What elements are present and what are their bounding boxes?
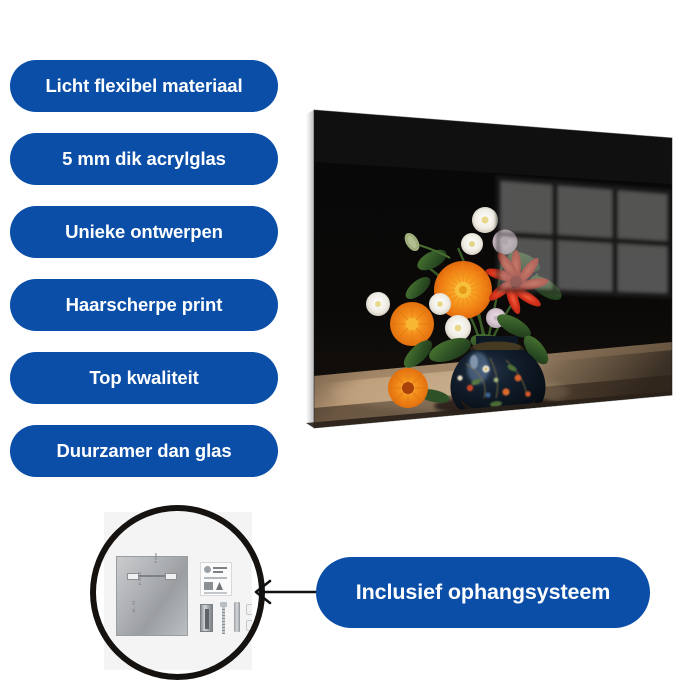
feature-pill-label: Haarscherpe print <box>66 296 223 315</box>
circle-outline-icon <box>90 505 265 680</box>
feature-pill-unique-designs[interactable]: Unieke ontwerpen <box>10 206 278 258</box>
arrow-left-icon <box>248 576 324 610</box>
feature-pill-label: Unieke ontwerpen <box>65 223 223 242</box>
feature-pill-5mm-acrylic[interactable]: 5 mm dik acrylglas <box>10 133 278 185</box>
feature-pill-top-quality[interactable]: Top kwaliteit <box>10 352 278 404</box>
acrylic-edge-left <box>306 110 314 428</box>
acrylic-panel-artwork <box>300 92 700 442</box>
feature-pill-list: Licht flexibel materiaal 5 mm dik acrylg… <box>10 60 278 498</box>
callout-pill-mounting-system[interactable]: Inclusief ophangsysteem <box>316 557 650 628</box>
artwork-svg <box>300 92 700 442</box>
feature-pill-label: Duurzamer dan glas <box>56 442 231 461</box>
marigold-left <box>390 302 434 346</box>
daisy <box>472 207 498 233</box>
callout-pill-label: Inclusief ophangsysteem <box>356 582 611 604</box>
panel-face <box>300 92 700 442</box>
product-feature-graphic: Licht flexibel materiaal 5 mm dik acrylg… <box>0 0 700 700</box>
feature-pill-sharp-print[interactable]: Haarscherpe print <box>10 279 278 331</box>
feature-pill-label: Licht flexibel materiaal <box>45 77 242 96</box>
feature-pill-label: 5 mm dik acrylglas <box>62 150 226 169</box>
feature-pill-label: Top kwaliteit <box>89 369 198 388</box>
feature-pill-light-flexible-material[interactable]: Licht flexibel materiaal <box>10 60 278 112</box>
mounting-kit-callout-circle: 5 mm K W 10 15 - 21 <box>90 505 265 680</box>
feature-pill-more-durable-than-glass[interactable]: Duurzamer dan glas <box>10 425 278 477</box>
window-reflection <box>496 176 672 298</box>
